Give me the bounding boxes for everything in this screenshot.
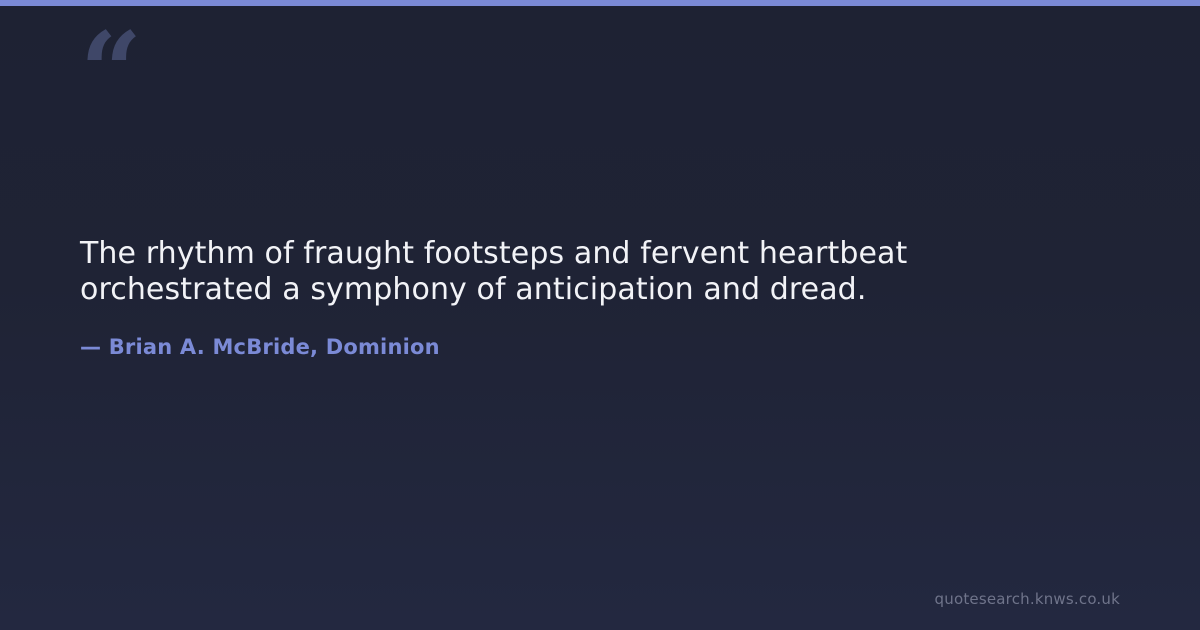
quote-content: The rhythm of fraught footsteps and ferv… [80, 236, 1080, 360]
quote-card: “ The rhythm of fraught footsteps and fe… [0, 0, 1200, 630]
quote-attribution: — Brian A. McBride, Dominion [80, 334, 1080, 360]
attribution-label: Brian A. McBride, Dominion [109, 335, 440, 359]
quote-text: The rhythm of fraught footsteps and ferv… [80, 236, 985, 308]
quotation-mark-icon: “ [80, 18, 140, 126]
site-watermark: quotesearch.knws.co.uk [935, 590, 1120, 608]
top-accent-bar [0, 0, 1200, 6]
attribution-dash: — [80, 335, 101, 359]
